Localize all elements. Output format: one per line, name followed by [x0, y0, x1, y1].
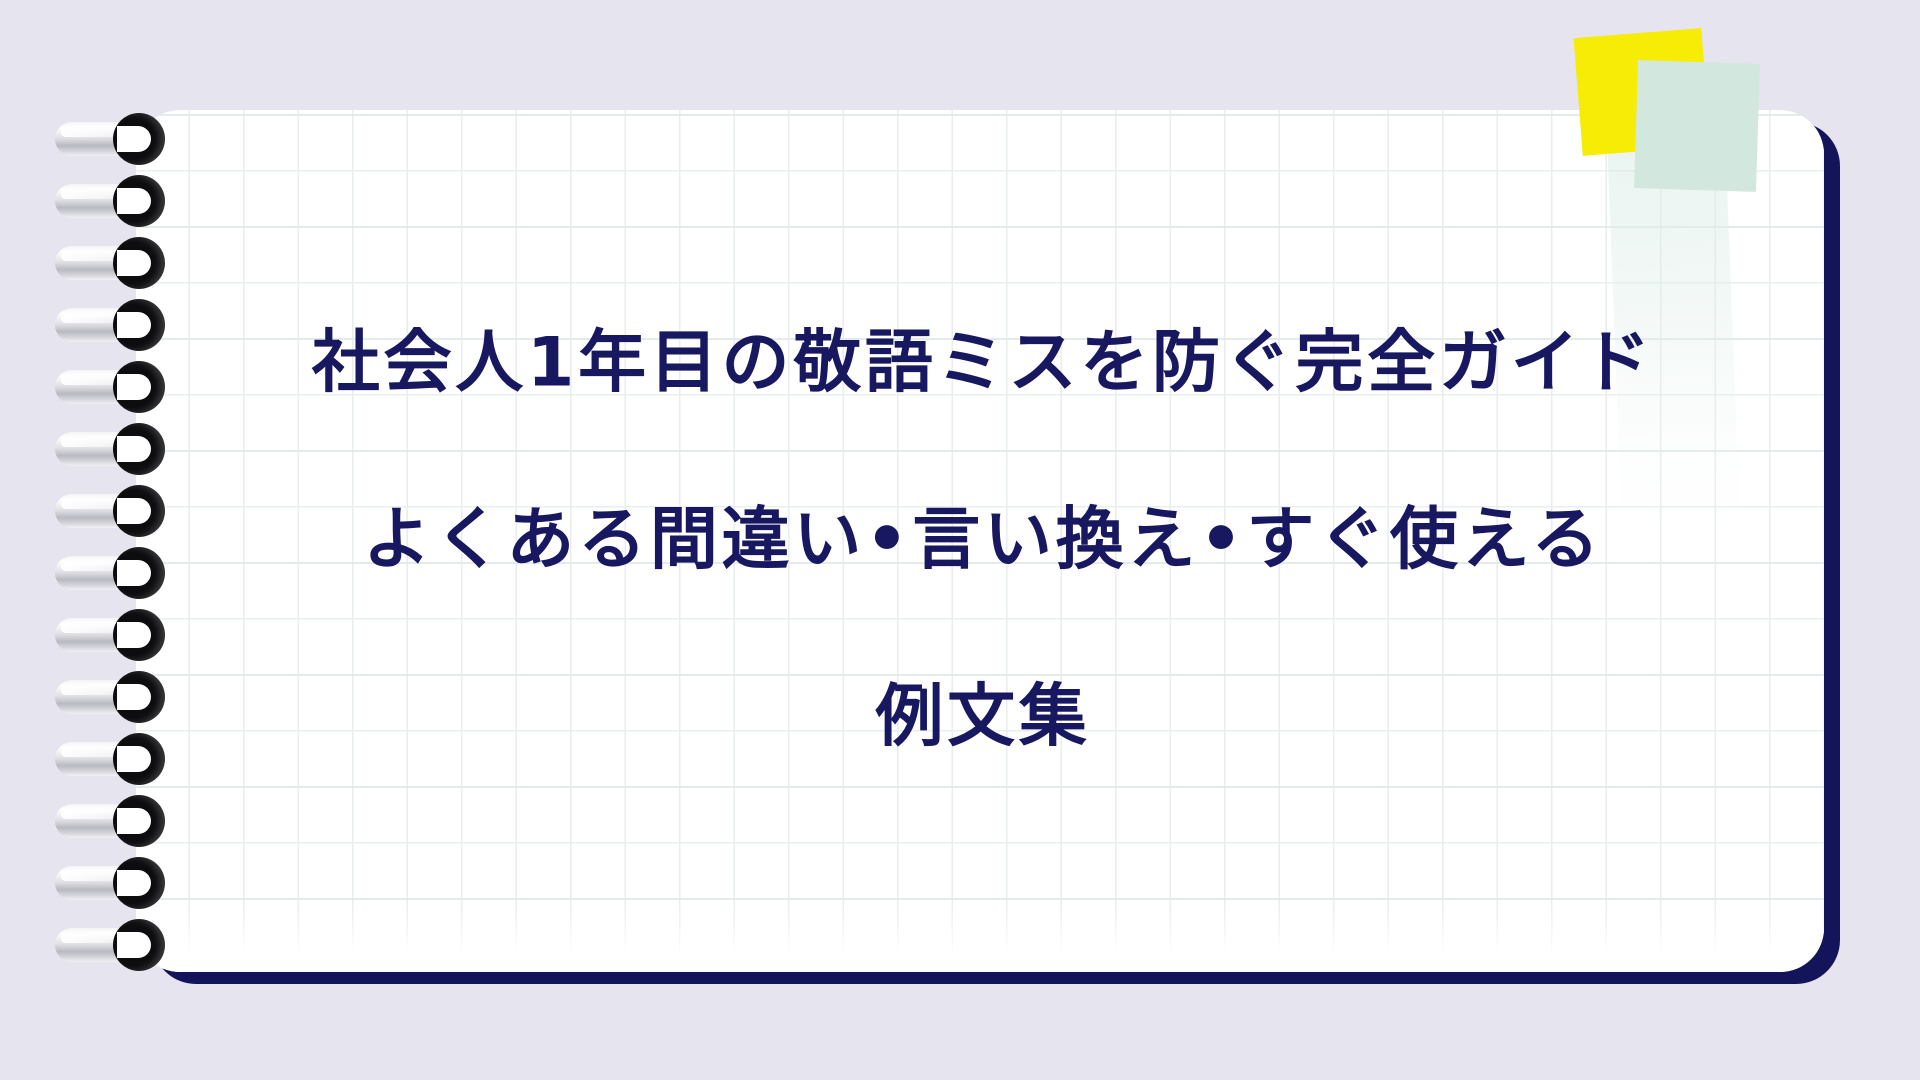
notebook-page-card: 社会人1年目の敬語ミスを防ぐ完全ガイド よくある間違い•言い換え•すぐ使える 例… — [136, 110, 1824, 972]
title-line-1: 社会人1年目の敬語ミスを防ぐ完全ガイド — [176, 320, 1790, 408]
page-bottom-fade — [136, 902, 1824, 972]
title-line-3: 例文集 — [176, 674, 1790, 762]
title-line-2: よくある間違い•言い換え•すぐ使える — [176, 497, 1790, 585]
page-title: 社会人1年目の敬語ミスを防ぐ完全ガイド よくある間違い•言い換え•すぐ使える 例… — [176, 232, 1790, 851]
sticky-note-mint — [1634, 60, 1760, 192]
screenshot-canvas: 社会人1年目の敬語ミスを防ぐ完全ガイド よくある間違い•言い換え•すぐ使える 例… — [0, 0, 1920, 1080]
